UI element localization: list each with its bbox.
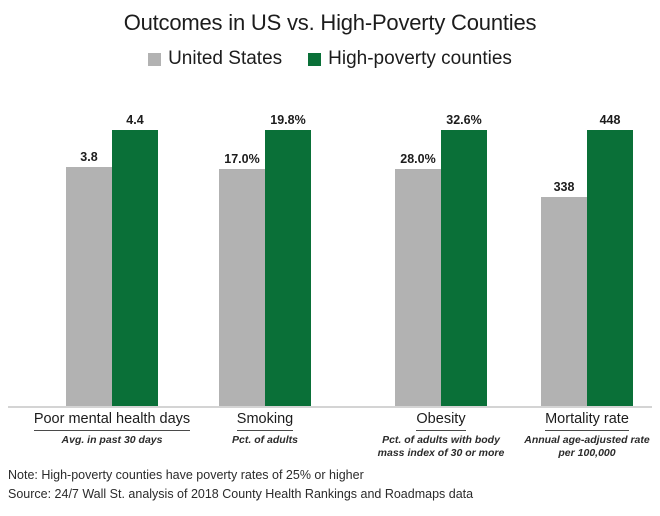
category-sublabel-line1: Annual age-adjusted rate [500, 434, 660, 447]
bar-value-label: 448 [587, 113, 633, 127]
bar-value-label: 19.8% [265, 113, 311, 127]
category-sublabel-line1: Pct. of adults [175, 434, 355, 447]
bar-value-label: 17.0% [219, 152, 265, 166]
bar-high-poverty-1[interactable] [265, 130, 311, 406]
legend-item-united-states[interactable]: United States [148, 48, 282, 70]
chart-title: Outcomes in US vs. High-Poverty Counties [0, 10, 660, 36]
bar-high-poverty-2[interactable] [441, 130, 487, 406]
bar-value-label: 28.0% [395, 152, 441, 166]
plot-area: 3.84.417.0%19.8%28.0%32.6%338448 [0, 95, 660, 408]
legend-item-high-poverty-counties[interactable]: High-poverty counties [308, 48, 512, 70]
chart-footnotes: Note: High-poverty counties have poverty… [8, 466, 648, 505]
square-swatch-gray-icon [148, 53, 161, 66]
bar-value-label: 338 [541, 180, 587, 194]
bar-high-poverty-0[interactable] [112, 130, 158, 406]
bar-high-poverty-3[interactable] [587, 130, 633, 406]
footnote-note: Note: High-poverty counties have poverty… [8, 466, 648, 485]
category-name: Obesity [416, 411, 465, 431]
category-label-group-1: SmokingPct. of adults [175, 410, 355, 447]
bar-value-label: 32.6% [441, 113, 487, 127]
category-label-group-3: Mortality rateAnnual age-adjusted ratepe… [500, 410, 660, 460]
legend-label-high-poverty-counties: High-poverty counties [328, 48, 512, 70]
bar-us-3[interactable] [541, 197, 587, 406]
bar-value-label: 4.4 [112, 113, 158, 127]
category-sublabel: Pct. of adults [175, 434, 355, 447]
legend-label-united-states: United States [168, 48, 282, 70]
bar-us-2[interactable] [395, 169, 441, 406]
x-axis-baseline [8, 406, 652, 408]
bar-us-0[interactable] [66, 167, 112, 406]
category-name: Poor mental health days [34, 411, 190, 431]
bar-us-1[interactable] [219, 169, 265, 406]
square-swatch-green-icon [308, 53, 321, 66]
category-name: Mortality rate [545, 411, 629, 431]
category-axis-labels: Poor mental health daysAvg. in past 30 d… [0, 410, 660, 462]
bar-value-label: 3.8 [66, 150, 112, 164]
category-sublabel-line2: per 100,000 [500, 447, 660, 460]
chart-container: Outcomes in US vs. High-Poverty Counties… [0, 0, 660, 516]
footnote-source: Source: 24/7 Wall St. analysis of 2018 C… [8, 485, 648, 504]
chart-legend: United States High-poverty counties [0, 48, 660, 70]
category-sublabel: Annual age-adjusted rateper 100,000 [500, 434, 660, 460]
category-name: Smoking [237, 411, 293, 431]
